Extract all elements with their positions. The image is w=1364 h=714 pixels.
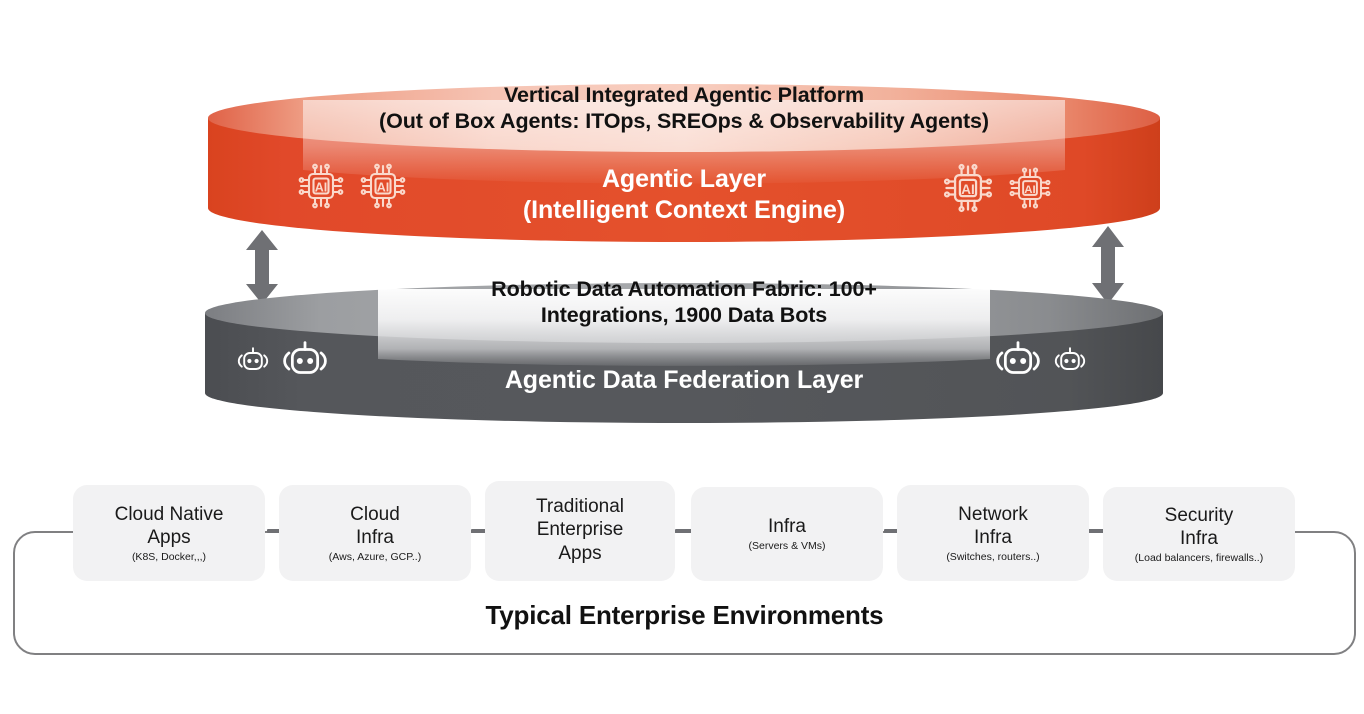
ai-chip-icon-text: AI — [961, 182, 974, 197]
env-box-security-infra[interactable]: Security Infra (Load balancers, firewall… — [1103, 487, 1295, 581]
robot-bot-icon — [1052, 345, 1088, 377]
ai-chip-icon: AI — [1008, 164, 1052, 212]
agentic-layer-top-label: Vertical Integrated Agentic Platform (Ou… — [208, 82, 1160, 134]
robot-bot-icon-group-right — [992, 338, 1088, 384]
env-box-subtitle: (Switches, routers..) — [946, 551, 1039, 564]
env-box-subtitle: (Load balancers, firewalls..) — [1135, 552, 1263, 565]
enterprise-box-row: Cloud Native Apps (K8S, Docker,,,) Cloud… — [0, 481, 1364, 583]
ai-chip-icon-text: AI — [377, 181, 390, 195]
diagram-canvas: Vertical Integrated Agentic Platform (Ou… — [0, 0, 1364, 714]
robot-bot-icon-group-left — [235, 338, 331, 384]
ai-chip-icon-group-right: AI AI — [942, 160, 1052, 216]
env-box-cloud-infra[interactable]: Cloud Infra (Aws, Azure, GCP..) — [279, 485, 471, 581]
env-box-subtitle: (Aws, Azure, GCP..) — [329, 551, 421, 564]
env-box-traditional-enterprise-apps[interactable]: Traditional Enterprise Apps — [485, 481, 675, 581]
robot-bot-icon — [992, 338, 1044, 384]
env-box-cloud-native-apps[interactable]: Cloud Native Apps (K8S, Docker,,,) — [73, 485, 265, 581]
env-box-title: Cloud Native Apps — [115, 503, 224, 549]
env-box-network-infra[interactable]: Network Infra (Switches, routers..) — [897, 485, 1089, 581]
federation-layer-top-label: Robotic Data Automation Fabric: 100+ Int… — [205, 276, 1163, 328]
env-box-subtitle: (Servers & VMs) — [748, 540, 825, 553]
env-box-title: Cloud Infra — [350, 503, 400, 549]
ai-chip-icon: AI — [359, 160, 407, 212]
env-box-title: Traditional Enterprise Apps — [536, 495, 624, 565]
robot-bot-icon — [279, 338, 331, 384]
env-box-subtitle: (K8S, Docker,,,) — [132, 551, 206, 564]
env-box-title: Infra — [768, 515, 806, 538]
enterprise-environments-caption: Typical Enterprise Environments — [13, 600, 1356, 631]
ai-chip-icon-group-left: AI AI — [297, 160, 407, 212]
ai-chip-icon: AI — [942, 160, 994, 216]
env-box-title: Security Infra — [1165, 504, 1234, 550]
ai-chip-icon-text: AI — [1024, 184, 1035, 196]
ai-chip-icon: AI — [297, 160, 345, 212]
env-box-title: Network Infra — [958, 503, 1028, 549]
robot-bot-icon — [235, 345, 271, 377]
ai-chip-icon-text: AI — [315, 181, 328, 195]
env-box-infra[interactable]: Infra (Servers & VMs) — [691, 487, 883, 581]
